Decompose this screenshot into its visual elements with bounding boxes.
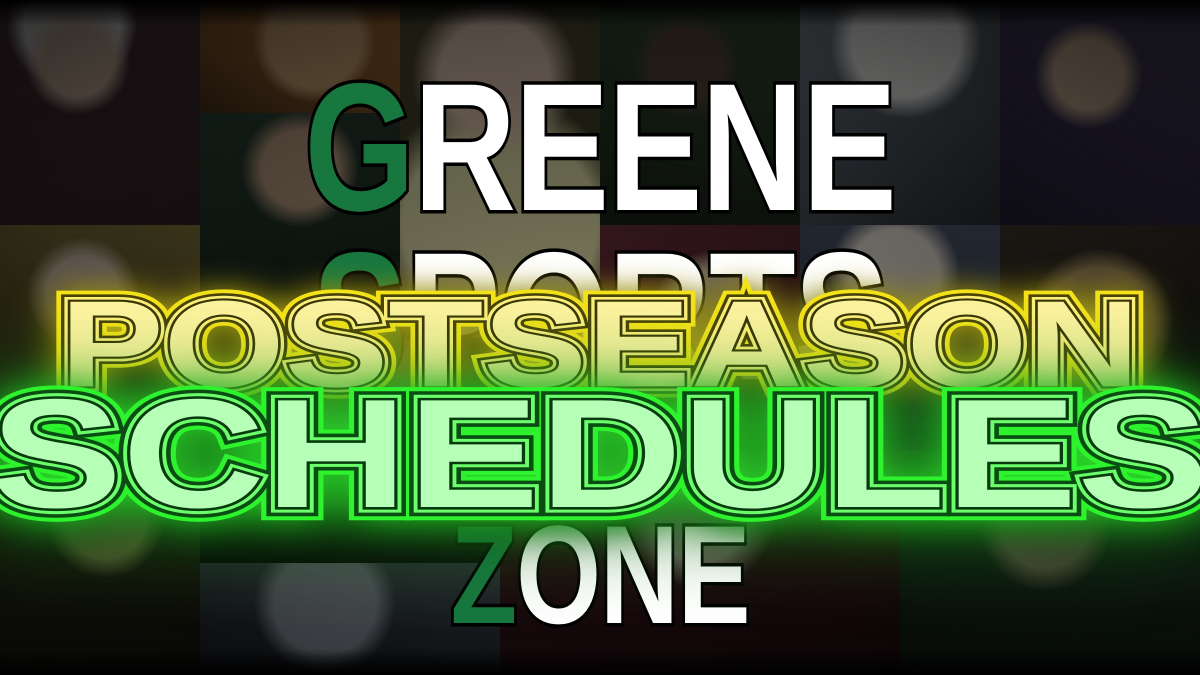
headline-schedules: SCHEDULES SCHEDULES SCHEDULES SCHEDULES … xyxy=(0,378,1200,530)
headline-schedules-core: SCHEDULES xyxy=(0,376,1200,531)
title-stack: GREENE SPORTS ZONE POSTSEASON POSTSEASON… xyxy=(0,0,1200,675)
promo-graphic-canvas: GREENE SPORTS ZONE POSTSEASON POSTSEASON… xyxy=(0,0,1200,675)
brand-word-greene: GREENE xyxy=(132,56,1068,238)
